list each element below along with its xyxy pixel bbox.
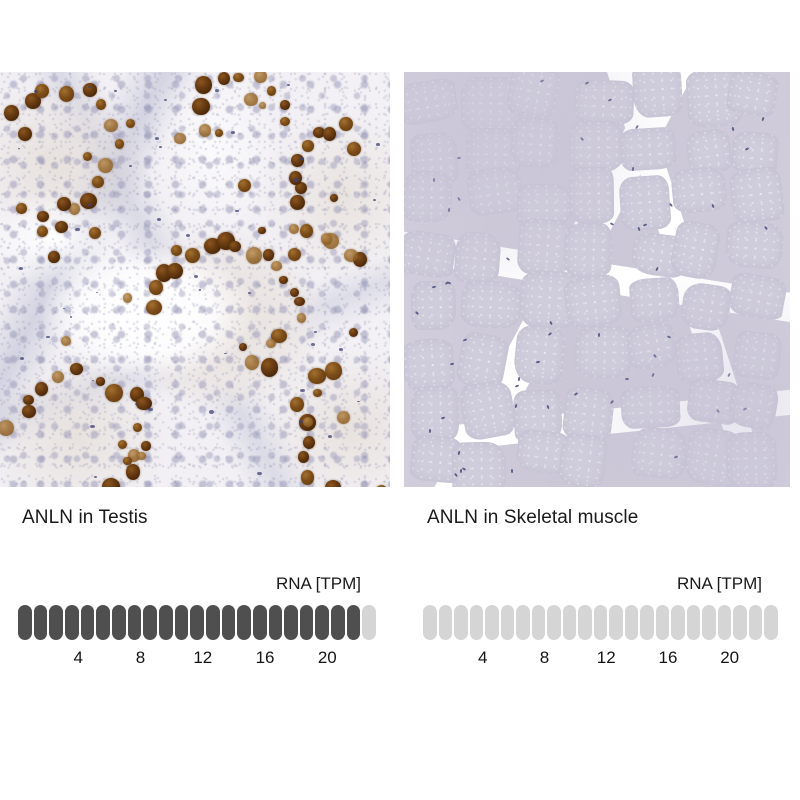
rna-axis-tick: 12: [597, 648, 616, 668]
hematoxylin-nucleus: [92, 380, 94, 381]
hematoxylin-nucleus: [63, 308, 65, 310]
rna-gauge-segment: [594, 605, 608, 640]
dab-positive-nucleus: [279, 276, 288, 284]
rna-axis-tick: 20: [318, 648, 337, 668]
dab-positive-nucleus: [80, 193, 97, 210]
hematoxylin-nucleus: [88, 204, 92, 207]
dab-positive-nucleus: [321, 233, 333, 244]
dab-positive-nucleus: [245, 355, 260, 370]
rna-gauge-segment: [671, 605, 685, 640]
dab-positive-nucleus: [300, 224, 313, 238]
dab-positive-nucleus: [83, 152, 92, 161]
rna-gauge-segment: [563, 605, 577, 640]
rna-axis-tick: 4: [74, 648, 83, 668]
dab-positive-nucleus: [115, 139, 124, 149]
rna-gauge-segment: [18, 605, 32, 640]
dab-positive-nucleus: [263, 249, 275, 261]
rna-gauge-segment: [222, 605, 236, 640]
rna-gauge-segment: [640, 605, 654, 640]
hematoxylin-nucleus: [155, 137, 159, 140]
rna-tpm-label-skeletal-muscle: RNA [TPM]: [677, 574, 762, 594]
dab-positive-nucleus: [218, 72, 230, 85]
hematoxylin-nucleus: [311, 343, 316, 346]
micrograph-skeletal-muscle[interactable]: [404, 72, 790, 487]
dab-positive-nuclei-layer: [0, 72, 390, 487]
rna-axis-tick: 16: [256, 648, 275, 668]
dab-positive-nucleus: [146, 300, 163, 316]
hematoxylin-nucleus: [75, 228, 80, 231]
dab-positive-nucleus: [96, 99, 106, 109]
page-title-testis: ANLN in Testis: [22, 507, 148, 529]
dab-positive-nucleus: [126, 464, 141, 480]
dab-positive-nucleus: [185, 248, 200, 263]
dab-positive-nucleus: [302, 140, 314, 151]
rna-gauge-segment: [362, 605, 376, 640]
rna-gauge-segment: [547, 605, 561, 640]
dab-positive-nucleus: [105, 384, 123, 402]
rna-gauge-segment: [501, 605, 515, 640]
dab-positive-nucleus: [149, 280, 162, 294]
dab-positive-nucleus: [18, 127, 32, 141]
dab-positive-nucleus: [104, 119, 118, 132]
hematoxylin-nucleus: [46, 336, 49, 338]
dab-positive-nucleus: [244, 93, 257, 106]
hematoxylin-nucleus: [357, 401, 359, 403]
dab-positive-nucleus: [195, 76, 212, 94]
panel-container: ANLN in Testis RNA [TPM] 48121620 ANLN i…: [0, 0, 800, 800]
dab-positive-nucleus: [290, 397, 304, 412]
dab-positive-nucleus: [22, 405, 36, 419]
dab-positive-nucleus: [271, 261, 281, 271]
hematoxylin-nucleus: [328, 435, 332, 438]
dab-positive-nucleus: [323, 127, 336, 141]
rna-gauge-segment: [687, 605, 701, 640]
rna-gauge-segment: [516, 605, 530, 640]
dab-positive-nucleus: [280, 100, 290, 109]
hematoxylin-nucleus: [34, 90, 38, 93]
hematoxylin-nucleus: [94, 476, 97, 478]
rna-gauge-segment: [112, 605, 126, 640]
rna-gauge-segment: [206, 605, 220, 640]
rna-gauge-segment: [454, 605, 468, 640]
rna-gauge-segment: [96, 605, 110, 640]
rna-gauge-segment: [34, 605, 48, 640]
dab-positive-nucleus: [376, 485, 387, 487]
dab-positive-nucleus: [301, 470, 315, 485]
rna-gauge-segment: [718, 605, 732, 640]
dab-positive-nucleus: [0, 420, 14, 436]
dab-positive-nucleus: [337, 411, 350, 424]
panel-testis: ANLN in Testis RNA [TPM] 48121620: [0, 0, 390, 800]
dab-positive-nucleus: [297, 313, 306, 323]
dab-positive-nucleus: [254, 72, 267, 83]
hematoxylin-nucleus: [248, 292, 251, 294]
hematoxylin-nucleus: [20, 357, 24, 360]
rna-axis-ticks-testis: 48121620: [18, 648, 376, 670]
dab-positive-nucleus: [289, 224, 299, 234]
hematoxylin-nucleus: [88, 86, 91, 88]
rna-gauge-segment: [764, 605, 778, 640]
dab-positive-nucleus: [171, 245, 183, 256]
hematoxylin-nucleus: [235, 210, 239, 213]
hematoxylin-nucleus: [164, 99, 167, 101]
hematoxylin-nucleus: [209, 410, 214, 413]
dab-positive-nucleus: [233, 73, 243, 82]
rna-tpm-label-testis: RNA [TPM]: [276, 574, 361, 594]
panel-skeletal-muscle: ANLN in Skeletal muscle RNA [TPM] 481216…: [404, 0, 790, 800]
rna-axis-tick: 20: [720, 648, 739, 668]
dab-positive-nucleus: [48, 251, 59, 262]
rna-gauge-segment: [470, 605, 484, 640]
dab-positive-nucleus: [133, 423, 142, 432]
dab-positive-nucleus: [291, 154, 304, 168]
dab-positive-nucleus: [57, 197, 71, 211]
dab-positive-nucleus: [215, 129, 223, 137]
rna-axis-ticks-skeletal-muscle: 48121620: [423, 648, 778, 670]
rna-gauge-segment: [749, 605, 763, 640]
dab-positive-nucleus: [123, 293, 132, 302]
dab-positive-nucleus: [102, 478, 120, 487]
rna-gauge-segment: [702, 605, 716, 640]
rna-gauge-segment: [347, 605, 361, 640]
hematoxylin-nucleus: [129, 165, 132, 167]
rna-gauge-segment: [532, 605, 546, 640]
rna-axis-tick: 8: [136, 648, 145, 668]
rna-gauge-segment: [190, 605, 204, 640]
dab-positive-nucleus: [123, 457, 131, 465]
rna-gauge-segment: [315, 605, 329, 640]
dab-positive-nucleus: [98, 158, 113, 173]
dab-positive-nucleus: [199, 124, 212, 137]
dab-positive-nucleus: [16, 203, 27, 213]
dab-positive-nucleus: [4, 105, 19, 121]
hematoxylin-nucleus: [314, 331, 317, 333]
dab-positive-nucleus: [288, 248, 301, 261]
dab-positive-nucleus: [258, 227, 266, 235]
dab-positive-nucleus: [246, 247, 263, 264]
dab-positive-nucleus: [174, 133, 186, 145]
hematoxylin-nucleus: [373, 199, 376, 201]
hematoxylin-nucleus: [339, 348, 343, 351]
rna-gauge-segment: [300, 605, 314, 640]
dab-positive-nucleus: [290, 195, 305, 210]
dab-positive-nucleus: [37, 211, 49, 222]
dab-positive-nucleus: [290, 288, 300, 298]
rna-axis-tick: 12: [193, 648, 212, 668]
hematoxylin-nucleus: [231, 131, 235, 134]
dab-positive-nucleus: [294, 297, 304, 306]
dab-positive-nucleus: [52, 371, 64, 383]
hematoxylin-nucleus: [157, 218, 161, 221]
rna-gauge-segment: [439, 605, 453, 640]
rna-gauge-segment: [65, 605, 79, 640]
hematoxylin-nucleus: [18, 148, 20, 149]
rna-axis-tick: 4: [478, 648, 487, 668]
dab-positive-nucleus: [261, 358, 279, 377]
hematoxylin-nucleus: [257, 472, 262, 475]
rna-gauge-segment: [128, 605, 142, 640]
hematoxylin-nucleus: [90, 425, 95, 428]
hematoxylin-nucleus: [199, 289, 201, 290]
hematoxylin-nucleus: [287, 84, 290, 86]
hematoxylin-nucleus: [215, 89, 219, 92]
hematoxylin-nucleus: [376, 143, 380, 146]
illumination-vignette-layer: [404, 72, 790, 487]
dab-positive-nucleus: [141, 441, 151, 450]
dab-positive-nucleus: [308, 368, 326, 384]
hematoxylin-nucleus: [294, 178, 299, 181]
micrograph-testis[interactable]: [0, 72, 390, 487]
dab-positive-nucleus: [239, 343, 247, 351]
dab-positive-nucleus: [89, 227, 101, 239]
hematoxylin-nucleus: [135, 403, 138, 405]
hematoxylin-nucleus: [96, 292, 99, 294]
dab-positive-nucleus: [347, 142, 361, 156]
dab-positive-nucleus: [118, 440, 127, 449]
dab-positive-nucleus: [126, 119, 135, 128]
rna-gauge-segment: [578, 605, 592, 640]
dab-positive-nucleus: [137, 452, 146, 461]
page-title-skeletal-muscle: ANLN in Skeletal muscle: [427, 507, 638, 529]
rna-gauge-segment: [81, 605, 95, 640]
dab-positive-nucleus: [339, 117, 353, 131]
rna-gauge-segment: [331, 605, 345, 640]
hematoxylin-nucleus: [300, 389, 305, 393]
dab-positive-nucleus: [35, 382, 49, 397]
rna-gauge-segment: [284, 605, 298, 640]
dab-positive-nucleus: [96, 377, 106, 386]
rna-gauge-segment: [269, 605, 283, 640]
hematoxylin-nucleus: [224, 353, 226, 355]
hematoxylin-nucleus: [148, 408, 153, 411]
dab-positive-nucleus: [266, 339, 276, 348]
dab-positive-nucleus: [349, 328, 358, 337]
rna-gauge-skeletal-muscle[interactable]: [423, 605, 778, 640]
dab-positive-nucleus: [344, 249, 358, 262]
rna-gauge-segment: [175, 605, 189, 640]
dab-positive-nucleus: [267, 86, 276, 96]
dab-positive-nucleus: [325, 362, 342, 379]
dab-positive-nucleus: [229, 241, 241, 252]
rna-gauge-segment: [485, 605, 499, 640]
dab-positive-nucleus: [192, 98, 209, 115]
rna-gauge-segment: [237, 605, 251, 640]
dab-positive-nucleus: [298, 451, 310, 463]
dab-positive-nucleus: [167, 263, 183, 279]
dab-positive-nucleus: [313, 389, 322, 397]
rna-gauge-segment: [253, 605, 267, 640]
rna-gauge-segment: [159, 605, 173, 640]
hematoxylin-nucleus: [70, 316, 72, 318]
hematoxylin-nucleus: [186, 234, 190, 237]
rna-gauge-segment: [49, 605, 63, 640]
dab-positive-nucleus: [23, 395, 34, 405]
rna-gauge-segment: [143, 605, 157, 640]
dab-positive-nucleus: [37, 226, 48, 237]
dab-positive-nucleus: [325, 480, 342, 487]
dab-positive-nucleus: [59, 86, 74, 101]
dab-positive-nucleus: [330, 194, 338, 202]
dab-positive-nucleus: [303, 436, 315, 449]
hematoxylin-nucleus: [194, 275, 198, 278]
rna-axis-tick: 16: [658, 648, 677, 668]
rna-gauge-testis[interactable]: [18, 605, 376, 640]
dab-positive-nucleus: [238, 179, 251, 192]
dab-positive-nucleus: [61, 336, 71, 346]
hematoxylin-nucleus: [19, 267, 23, 270]
dab-positive-nucleus: [92, 176, 104, 188]
dab-positive-nucleus: [259, 102, 266, 109]
rna-axis-tick: 8: [540, 648, 549, 668]
hematoxylin-nucleus: [114, 90, 116, 92]
rna-gauge-segment: [656, 605, 670, 640]
dab-positive-nucleus: [280, 117, 290, 127]
rna-gauge-segment: [609, 605, 623, 640]
dab-positive-nucleus: [70, 363, 83, 374]
rna-gauge-segment: [625, 605, 639, 640]
rna-gauge-segment: [423, 605, 437, 640]
hematoxylin-nucleus: [159, 146, 163, 149]
dab-positive-nucleus: [55, 221, 68, 234]
rna-gauge-segment: [733, 605, 747, 640]
